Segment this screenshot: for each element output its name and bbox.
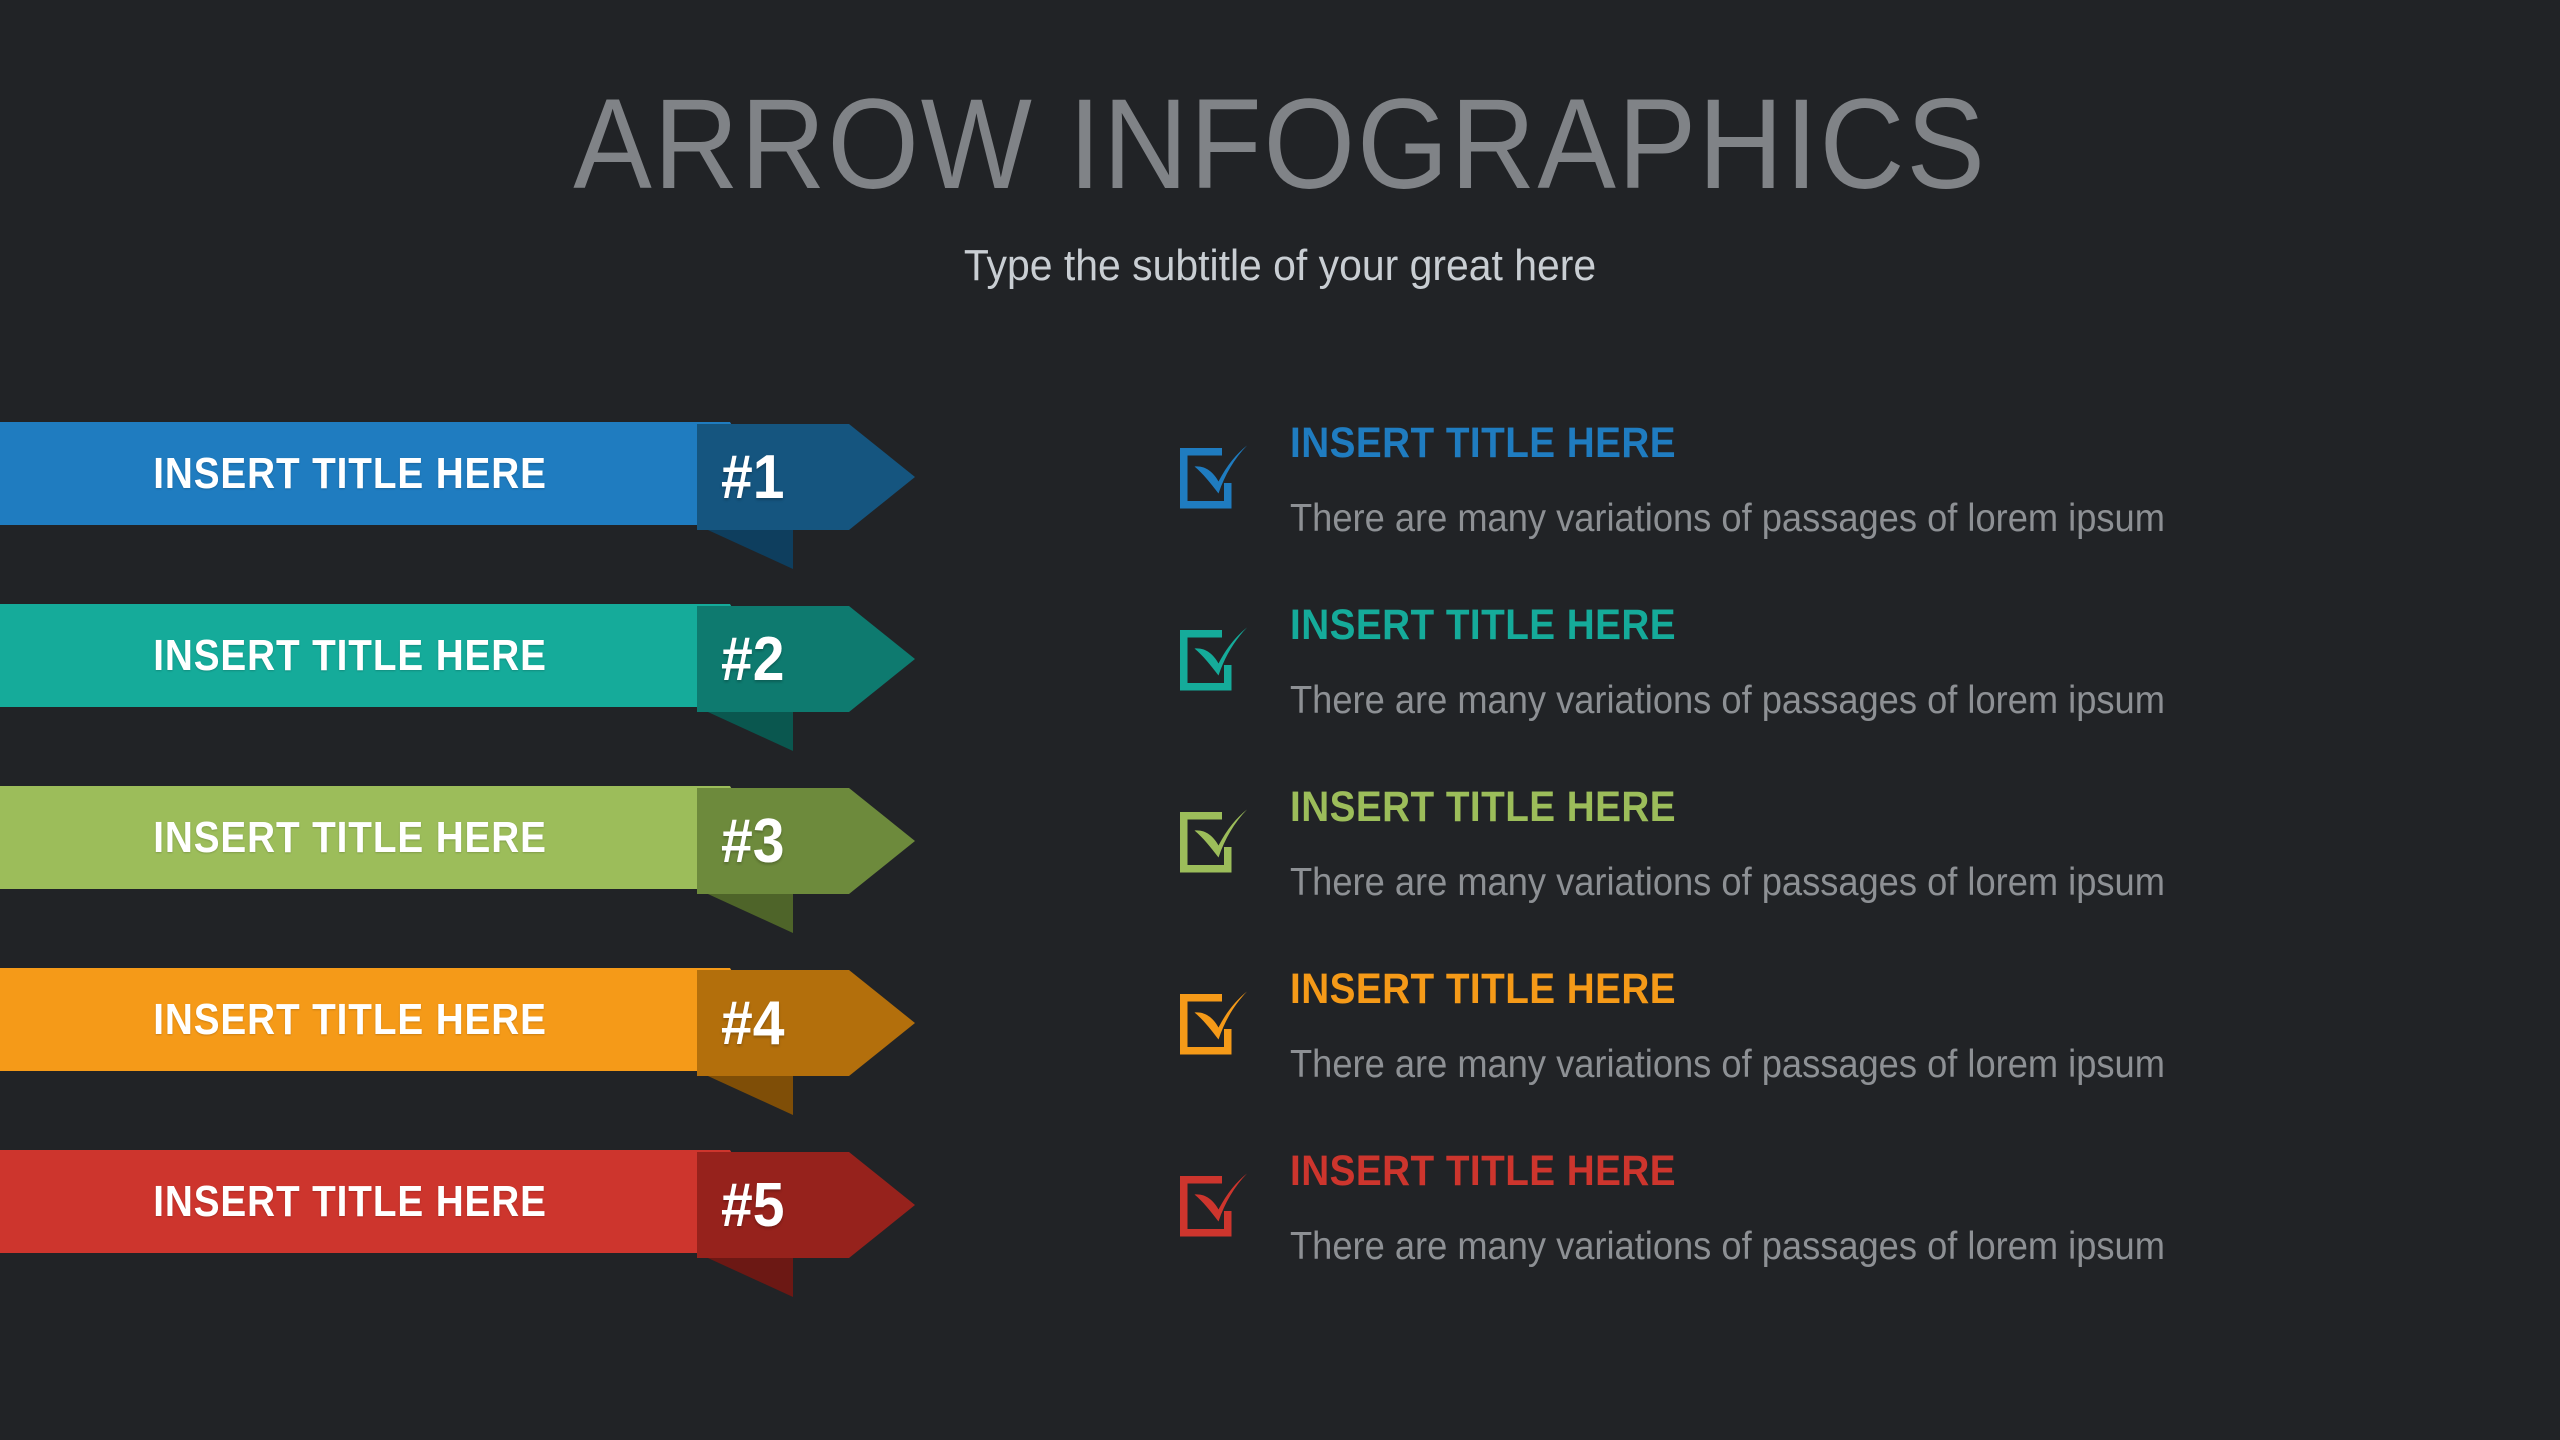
page-title: ARROW INFOGRAPHICS — [102, 80, 2457, 211]
ribbon-bar-body-5[interactable]: INSERT TITLE HERE — [0, 1150, 790, 1253]
arrow-row-1[interactable]: INSERT TITLE HERE#1INSERT TITLE HERETher… — [0, 422, 2560, 604]
step-number-chevron-1[interactable]: #1 — [697, 424, 915, 530]
arrow-row-3[interactable]: INSERT TITLE HERE#3INSERT TITLE HERETher… — [0, 786, 2560, 968]
detail-title-1: INSERT TITLE HERE — [1290, 422, 2370, 465]
detail-text-4: INSERT TITLE HEREThere are many variatio… — [1290, 968, 2490, 1084]
ribbon-fold-shadow-1 — [697, 525, 793, 569]
detail-block-1: INSERT TITLE HEREThere are many variatio… — [1172, 422, 2512, 582]
ribbon-bar-label-2: INSERT TITLE HERE — [42, 604, 658, 707]
detail-text-3: INSERT TITLE HEREThere are many variatio… — [1290, 786, 2490, 902]
checkbox-check-icon — [1172, 800, 1250, 880]
ribbon-fold-shadow-3 — [697, 889, 793, 933]
arrow-row-4[interactable]: INSERT TITLE HERE#4INSERT TITLE HERETher… — [0, 968, 2560, 1150]
detail-title-5: INSERT TITLE HERE — [1290, 1150, 2370, 1193]
detail-text-5: INSERT TITLE HEREThere are many variatio… — [1290, 1150, 2490, 1266]
ribbon-bar-body-3[interactable]: INSERT TITLE HERE — [0, 786, 790, 889]
ribbon-bar-4[interactable]: INSERT TITLE HERE#4 — [0, 968, 950, 1078]
detail-block-4: INSERT TITLE HEREThere are many variatio… — [1172, 968, 2512, 1128]
ribbon-bar-body-4[interactable]: INSERT TITLE HERE — [0, 968, 790, 1071]
step-number-chevron-2[interactable]: #2 — [697, 606, 915, 712]
arrow-row-2[interactable]: INSERT TITLE HERE#2INSERT TITLE HERETher… — [0, 604, 2560, 786]
checkbox-check-icon — [1172, 982, 1250, 1062]
step-number-chevron-5[interactable]: #5 — [697, 1152, 915, 1258]
ribbon-bar-label-1: INSERT TITLE HERE — [42, 422, 658, 525]
ribbon-fold-shadow-5 — [697, 1253, 793, 1297]
step-number-label-4: #4 — [721, 988, 784, 1059]
detail-title-3: INSERT TITLE HERE — [1290, 786, 2370, 829]
step-number-label-2: #2 — [721, 624, 784, 695]
ribbon-bar-5[interactable]: INSERT TITLE HERE#5 — [0, 1150, 950, 1260]
ribbon-bar-label-4: INSERT TITLE HERE — [42, 968, 658, 1071]
ribbon-bar-3[interactable]: INSERT TITLE HERE#3 — [0, 786, 950, 896]
checkbox-check-icon — [1172, 436, 1250, 516]
arrow-row-5[interactable]: INSERT TITLE HERE#5INSERT TITLE HERETher… — [0, 1150, 2560, 1332]
detail-text-1: INSERT TITLE HEREThere are many variatio… — [1290, 422, 2490, 538]
ribbon-bar-label-3: INSERT TITLE HERE — [42, 786, 658, 889]
page-subtitle: Type the subtitle of your great here — [90, 241, 2471, 291]
ribbon-bar-2[interactable]: INSERT TITLE HERE#2 — [0, 604, 950, 714]
detail-title-4: INSERT TITLE HERE — [1290, 968, 2370, 1011]
ribbon-fold-shadow-2 — [697, 707, 793, 751]
detail-description-5: There are many variations of passages of… — [1290, 1227, 2406, 1266]
infographic-slide: ARROW INFOGRAPHICS Type the subtitle of … — [0, 0, 2560, 1440]
step-number-chevron-4[interactable]: #4 — [697, 970, 915, 1076]
detail-block-3: INSERT TITLE HEREThere are many variatio… — [1172, 786, 2512, 946]
step-number-label-1: #1 — [721, 442, 784, 513]
detail-block-2: INSERT TITLE HEREThere are many variatio… — [1172, 604, 2512, 764]
ribbon-bar-body-1[interactable]: INSERT TITLE HERE — [0, 422, 790, 525]
detail-description-1: There are many variations of passages of… — [1290, 499, 2406, 538]
ribbon-bar-1[interactable]: INSERT TITLE HERE#1 — [0, 422, 950, 532]
slide-header: ARROW INFOGRAPHICS Type the subtitle of … — [0, 80, 2560, 291]
ribbon-bar-label-5: INSERT TITLE HERE — [42, 1150, 658, 1253]
ribbon-fold-shadow-4 — [697, 1071, 793, 1115]
detail-text-2: INSERT TITLE HEREThere are many variatio… — [1290, 604, 2490, 720]
ribbon-bar-body-2[interactable]: INSERT TITLE HERE — [0, 604, 790, 707]
detail-description-2: There are many variations of passages of… — [1290, 681, 2406, 720]
step-number-label-5: #5 — [721, 1170, 784, 1241]
step-number-label-3: #3 — [721, 806, 784, 877]
detail-description-3: There are many variations of passages of… — [1290, 863, 2406, 902]
checkbox-check-icon — [1172, 1164, 1250, 1244]
step-number-chevron-3[interactable]: #3 — [697, 788, 915, 894]
detail-description-4: There are many variations of passages of… — [1290, 1045, 2406, 1084]
detail-title-2: INSERT TITLE HERE — [1290, 604, 2370, 647]
detail-block-5: INSERT TITLE HEREThere are many variatio… — [1172, 1150, 2512, 1310]
checkbox-check-icon — [1172, 618, 1250, 698]
